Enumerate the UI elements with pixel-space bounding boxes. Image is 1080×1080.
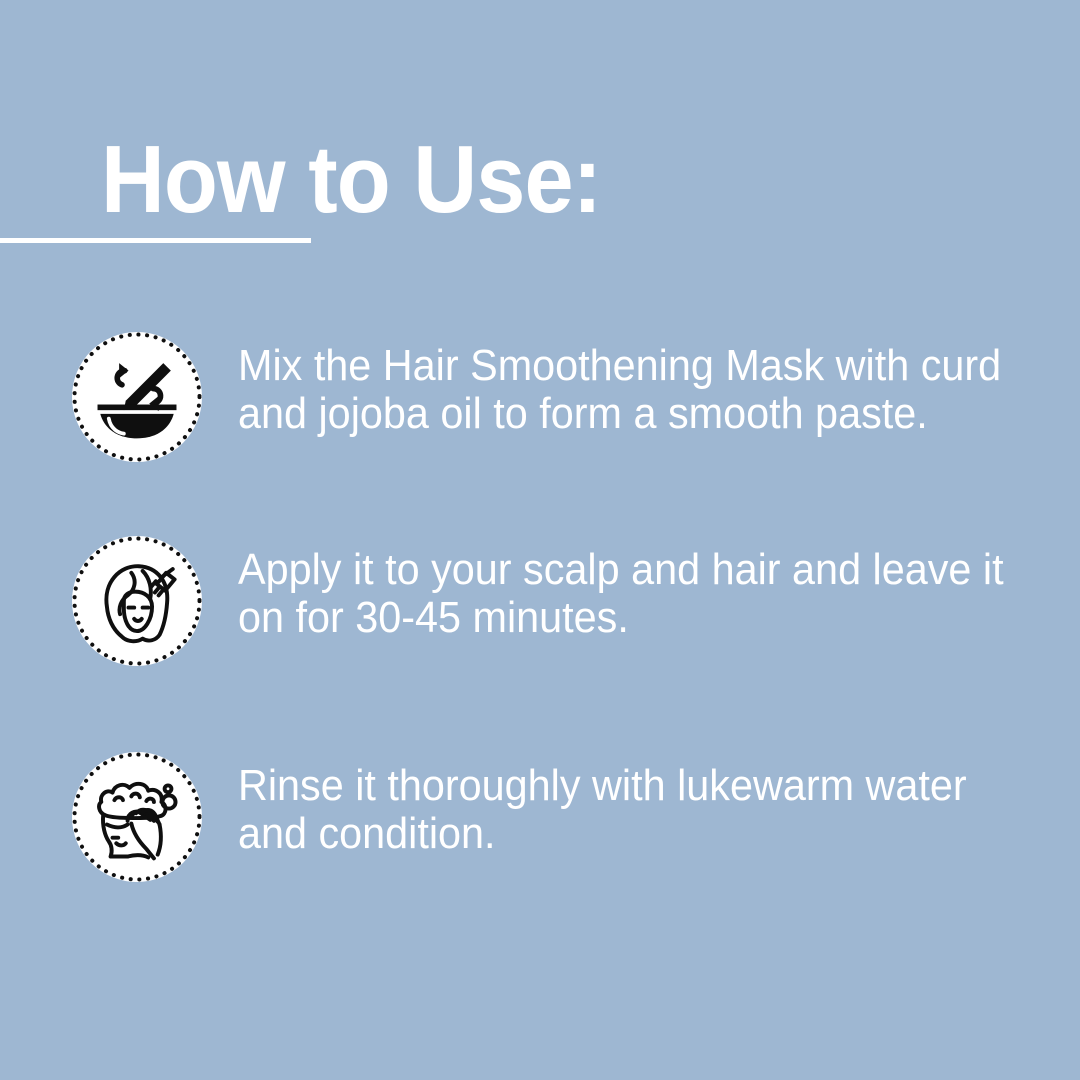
- step-description-3: Rinse it thoroughly with lukewarm water …: [238, 762, 981, 858]
- list-item: Apply it to your scalp and hair and leav…: [0, 536, 1080, 668]
- hair-brush-application-icon: [90, 554, 184, 648]
- step-text-line: Apply it to your scalp and hair and leav…: [238, 546, 981, 594]
- step-text-line: Mix the Hair Smoothening Mask with curd: [238, 342, 981, 390]
- list-item: Rinse it thoroughly with lukewarm water …: [0, 752, 1080, 884]
- list-item: Mix the Hair Smoothening Mask with curd …: [0, 332, 1080, 464]
- step-text-line: on for 30-45 minutes.: [238, 594, 981, 642]
- hair-wash-rinse-icon: [90, 770, 184, 864]
- step-description-2: Apply it to your scalp and hair and leav…: [238, 546, 981, 642]
- header: How to Use:: [0, 132, 1080, 252]
- step-text-line: Rinse it thoroughly with lukewarm water: [238, 762, 981, 810]
- how-to-use-poster: How to Use:: [0, 0, 1080, 1080]
- step-icon-badge-2: [72, 536, 202, 666]
- step-text-line: and condition.: [238, 810, 981, 858]
- title-underline-rule: [0, 238, 311, 243]
- step-icon-badge-1: [72, 332, 202, 462]
- step-icon-badge-3: [72, 752, 202, 882]
- step-description-1: Mix the Hair Smoothening Mask with curd …: [238, 342, 981, 438]
- page-title: How to Use:: [101, 132, 601, 228]
- step-text-line: and jojoba oil to form a smooth paste.: [238, 390, 981, 438]
- mixing-bowl-icon: [90, 350, 184, 444]
